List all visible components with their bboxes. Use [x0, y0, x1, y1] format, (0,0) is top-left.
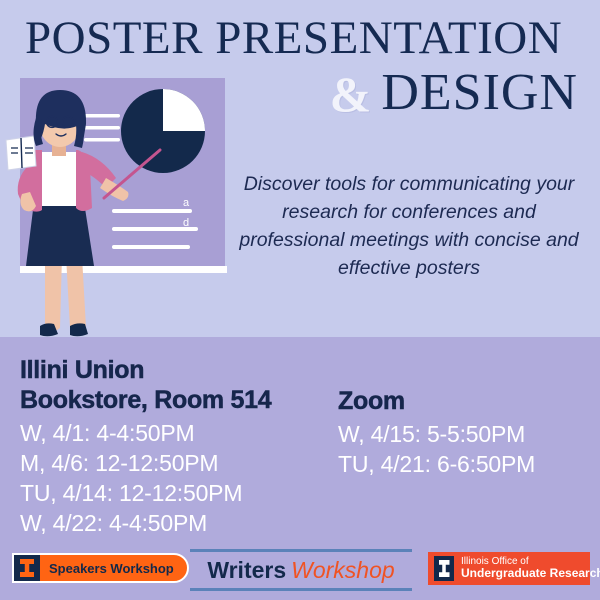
schedule-list: W, 4/15: 5-5:50PM TU, 4/21: 6-6:50PM [338, 419, 593, 479]
leg-left [45, 256, 62, 332]
board-line [112, 209, 192, 213]
title-line-1: POSTER PRESENTATION [0, 14, 600, 64]
workshop-word: Workshop [291, 557, 395, 583]
ampersand-glyph: & [330, 66, 372, 122]
writers-word: Writers [207, 557, 286, 583]
schedule-item: W, 4/22: 4-4:50PM [20, 508, 330, 538]
footer-logo-bar: Speakers Workshop WritersWorkshop Illino… [0, 548, 600, 594]
shoe-right [70, 323, 88, 336]
title-line-2: &DESIGN [0, 66, 600, 120]
skirt [26, 202, 94, 266]
session-block-illini-union: Illini Union Bookstore, Room 514 W, 4/1:… [20, 355, 330, 538]
speakers-workshop-logo[interactable]: Speakers Workshop [12, 553, 189, 583]
board-line [112, 245, 190, 249]
book-spine [21, 138, 22, 168]
venue-title-line: Bookstore, Room 514 [20, 385, 330, 415]
schedule-list: W, 4/1: 4-4:50PM M, 4/6: 12-12:50PM TU, … [20, 418, 330, 538]
venue-title-line: Illini Union [20, 355, 330, 385]
venue-title-line: Zoom [338, 386, 593, 416]
title-design-word: DESIGN [381, 64, 578, 121]
iour-label: Illinois Office of Undergraduate Researc… [461, 556, 600, 581]
schedule-item: TU, 4/14: 12-12:50PM [20, 478, 330, 508]
venue-title: Illini Union Bookstore, Room 514 [20, 355, 330, 415]
illinois-block-i-icon [14, 555, 40, 581]
schedule-item: W, 4/1: 4-4:50PM [20, 418, 330, 448]
board-line [84, 138, 120, 142]
board-glyph-d: d [183, 217, 189, 229]
speakers-workshop-label: Speakers Workshop [40, 561, 187, 576]
poster-canvas: a d [0, 0, 600, 600]
schedule-item: W, 4/15: 5-5:50PM [338, 419, 593, 449]
iour-line-2: Undergraduate Research [461, 567, 600, 580]
session-block-zoom: Zoom W, 4/15: 5-5:50PM TU, 4/21: 6-6:50P… [338, 386, 593, 479]
illinois-block-i-icon [434, 556, 454, 581]
schedule-item: M, 4/6: 12-12:50PM [20, 448, 330, 478]
blouse [38, 152, 80, 206]
block-i-glyph [20, 559, 34, 577]
poster-description: Discover tools for communicating your re… [228, 170, 590, 282]
block-i-glyph [439, 560, 450, 577]
schedule-item: TU, 4/21: 6-6:50PM [338, 449, 593, 479]
writers-workshop-logo[interactable]: WritersWorkshop [190, 549, 412, 591]
undergraduate-research-logo[interactable]: Illinois Office of Undergraduate Researc… [428, 552, 590, 585]
board-glyph-a: a [183, 197, 190, 209]
venue-title: Zoom [338, 386, 593, 416]
poster-title: POSTER PRESENTATION &DESIGN [0, 14, 600, 120]
